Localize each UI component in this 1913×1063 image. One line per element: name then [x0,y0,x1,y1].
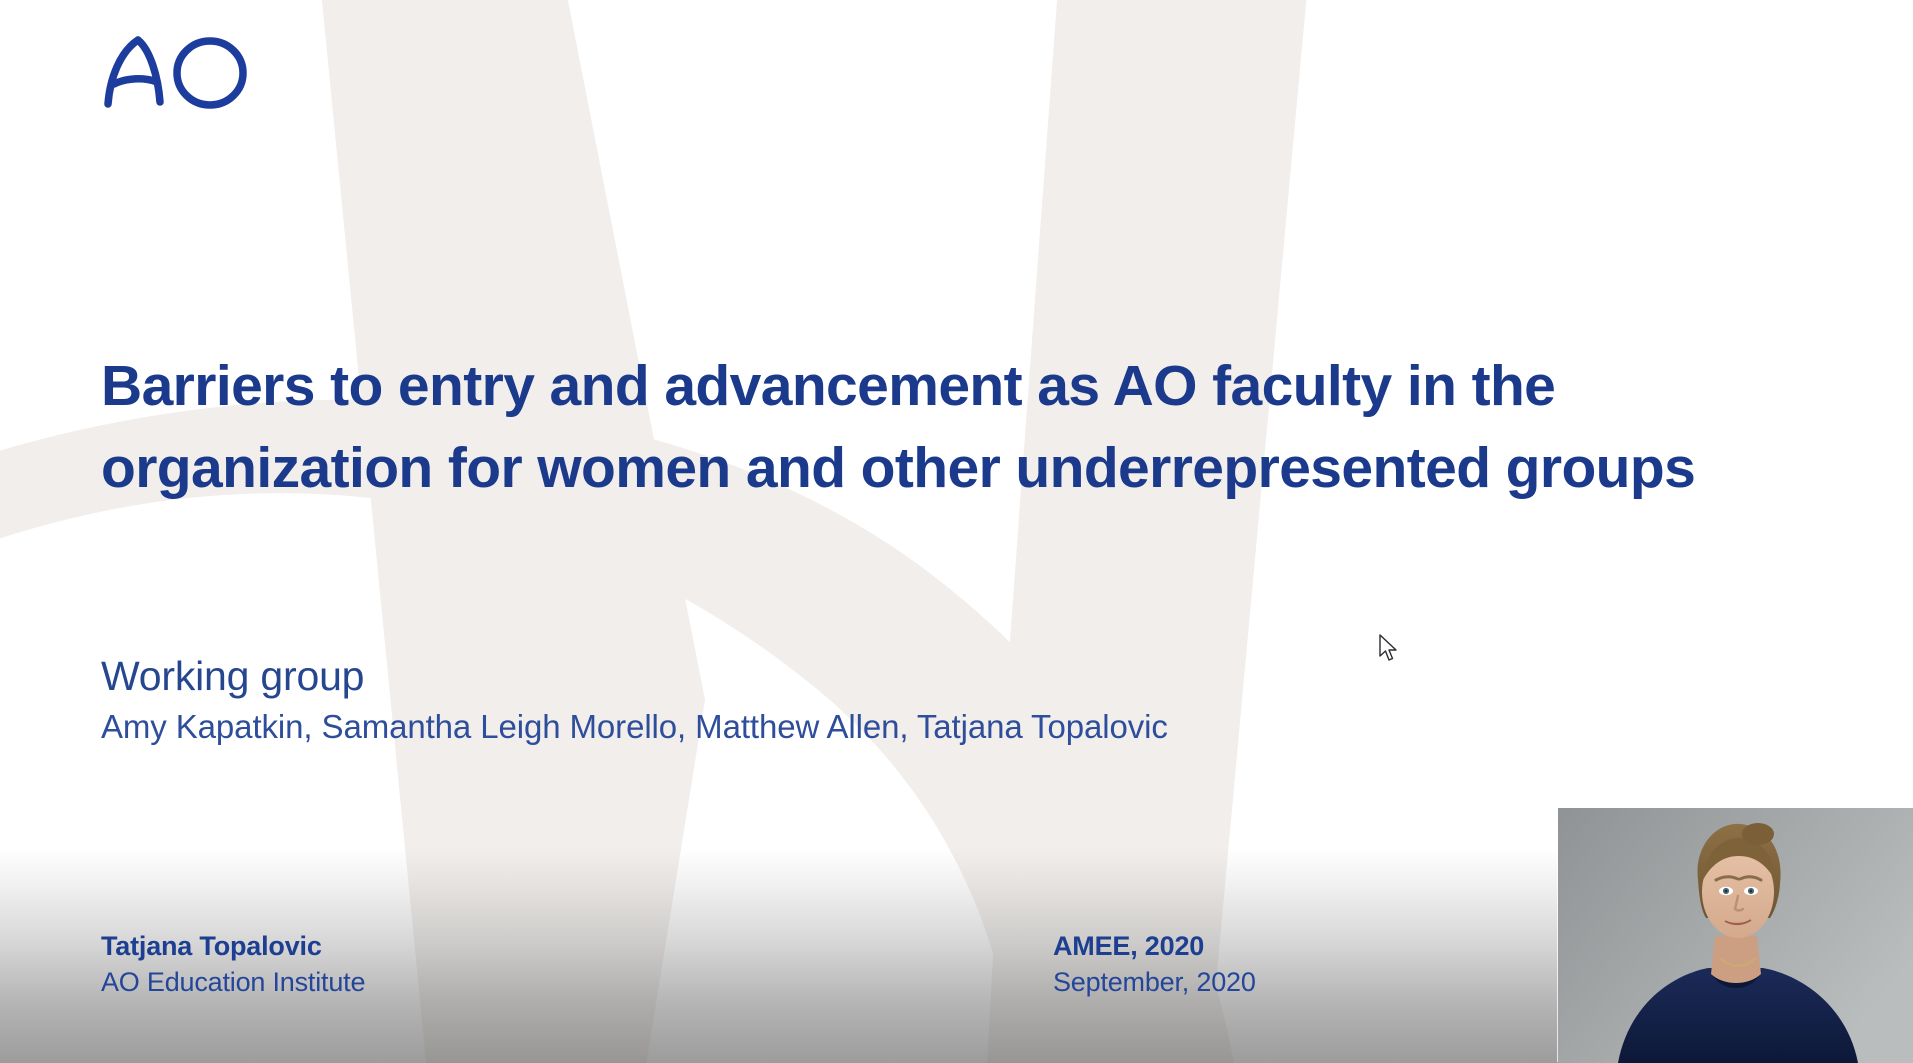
presenter-affiliation: AO Education Institute [101,964,365,1000]
footer-presenter: Tatjana Topalovic AO Education Institute [101,928,365,1000]
title-block: Barriers to entry and advancement as AO … [101,345,1801,509]
slide-title: Barriers to entry and advancement as AO … [101,345,1801,509]
presenter-webcam-overlay[interactable] [1558,808,1913,1063]
presentation-slide: Barriers to entry and advancement as AO … [0,0,1913,1063]
event-name: AMEE, 2020 [1053,928,1256,964]
working-group-heading: Working group [101,650,1501,702]
event-date: September, 2020 [1053,964,1256,1000]
presenter-name: Tatjana Topalovic [101,928,365,964]
footer-event: AMEE, 2020 September, 2020 [1053,928,1256,1000]
ao-logo [100,32,255,110]
working-group-authors: Amy Kapatkin, Samantha Leigh Morello, Ma… [101,706,1501,748]
working-group-block: Working group Amy Kapatkin, Samantha Lei… [101,650,1501,748]
